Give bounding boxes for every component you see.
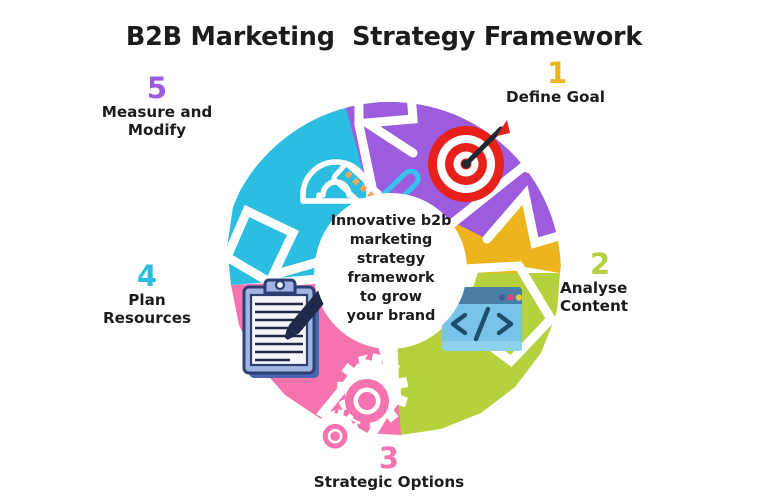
step-number-3: 3 xyxy=(284,444,494,473)
center-statement: Innovative b2b marketing strategy framew… xyxy=(315,193,467,345)
step-number-2: 2 xyxy=(590,250,720,279)
page-title: B2B Marketing Strategy Framework xyxy=(0,22,768,52)
center-line-4: framework xyxy=(347,269,434,288)
step-callout-plan-resources[interactable]: 4 Plan Resources xyxy=(84,262,210,328)
step-label-1: Define Goal xyxy=(506,89,668,107)
center-line-3: strategy xyxy=(357,250,425,269)
center-line-1: Innovative b2b xyxy=(331,212,452,231)
step-callout-define-goal[interactable]: 1 Define Goal xyxy=(478,59,668,107)
step-number-1: 1 xyxy=(547,59,668,88)
step-callout-strategic-options[interactable]: 3 Strategic Options xyxy=(284,444,494,492)
step-callout-measure-modify[interactable]: 5 Measure and Modify xyxy=(72,74,242,140)
center-line-2: marketing xyxy=(350,231,433,250)
step-number-5: 5 xyxy=(72,74,242,103)
step-callout-analyse-content[interactable]: 2 Analyse Content xyxy=(560,250,720,316)
cycle-diagram: Innovative b2b marketing strategy framew… xyxy=(219,61,561,483)
center-line-5: to grow xyxy=(360,288,422,307)
step-label-4: Plan Resources xyxy=(84,292,210,328)
step-number-4: 4 xyxy=(84,262,210,291)
infographic-canvas: B2B Marketing Strategy Framework xyxy=(0,0,768,500)
step-label-2: Analyse Content xyxy=(560,280,720,316)
center-line-6: your brand xyxy=(347,307,436,326)
step-label-3: Strategic Options xyxy=(284,474,494,492)
step-label-5: Measure and Modify xyxy=(72,104,242,140)
